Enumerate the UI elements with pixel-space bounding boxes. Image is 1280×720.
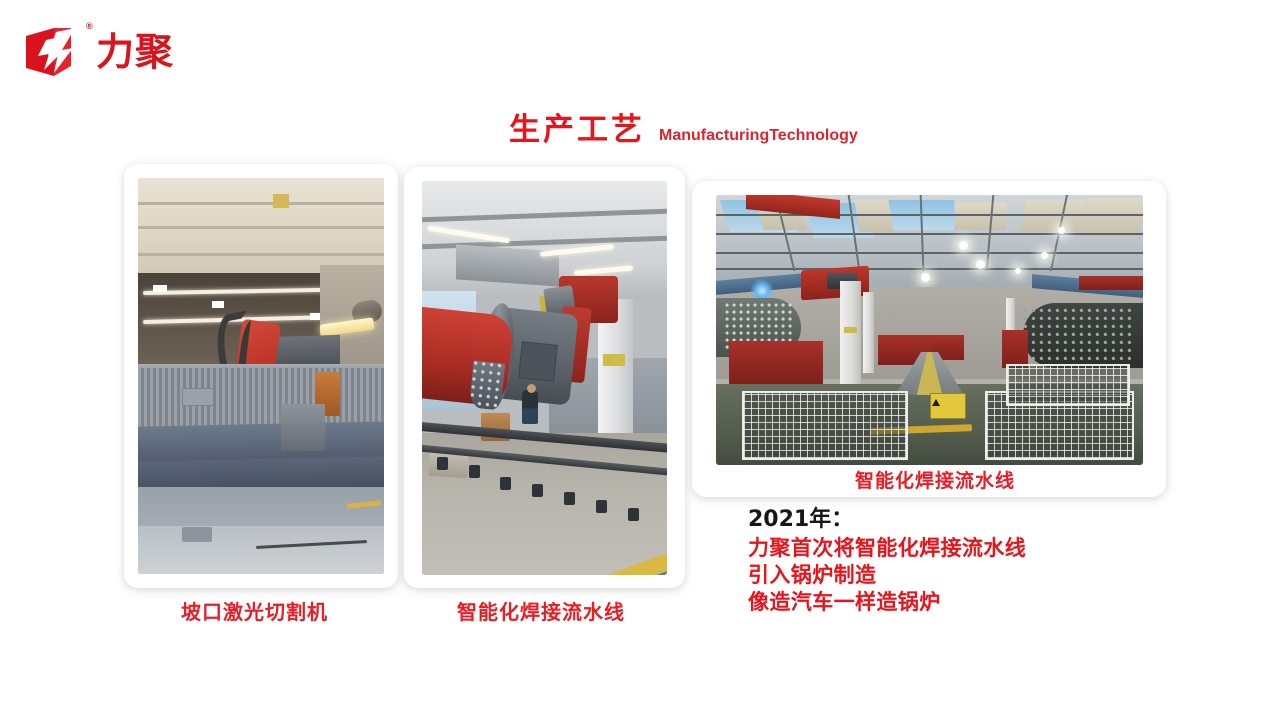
year-note-block: 2021年： 力聚首次将智能化焊接流水线 引入锅炉制造 像造汽车一样造锅炉 (748, 505, 1168, 616)
photo-card-3: 智能化焊接流水线 (692, 181, 1166, 497)
photo-caption-1: 坡口激光切割机 (181, 596, 328, 625)
photo-card-2 (404, 167, 685, 588)
photo-welding-line-hall (716, 195, 1143, 465)
page-title: 生产工艺 ManufacturingTechnology (509, 111, 858, 149)
photo-laser-cutting-machine (138, 178, 384, 574)
note-line-3: 像造汽车一样造锅炉 (748, 589, 1168, 616)
lightning-flag-logo-icon (24, 26, 86, 78)
page-title-en: ManufacturingTechnology (659, 126, 858, 146)
note-line-1: 力聚首次将智能化焊接流水线 (748, 535, 1168, 562)
brand-logo: ® 力聚 (24, 22, 224, 82)
brand-name: 力聚 (96, 30, 174, 74)
photo-caption-3: 智能化焊接流水线 (855, 466, 1015, 493)
photo-card-1 (124, 164, 398, 588)
year-label: 2021年： (748, 505, 1168, 535)
page-title-cn: 生产工艺 (509, 111, 645, 149)
slide-root: ® 力聚 生产工艺 ManufacturingTechnology (0, 0, 1280, 720)
photo-welding-line-vertical (422, 181, 667, 575)
photo-caption-2: 智能化焊接流水线 (457, 596, 625, 625)
registered-mark: ® (86, 22, 93, 31)
note-line-2: 引入锅炉制造 (748, 562, 1168, 589)
